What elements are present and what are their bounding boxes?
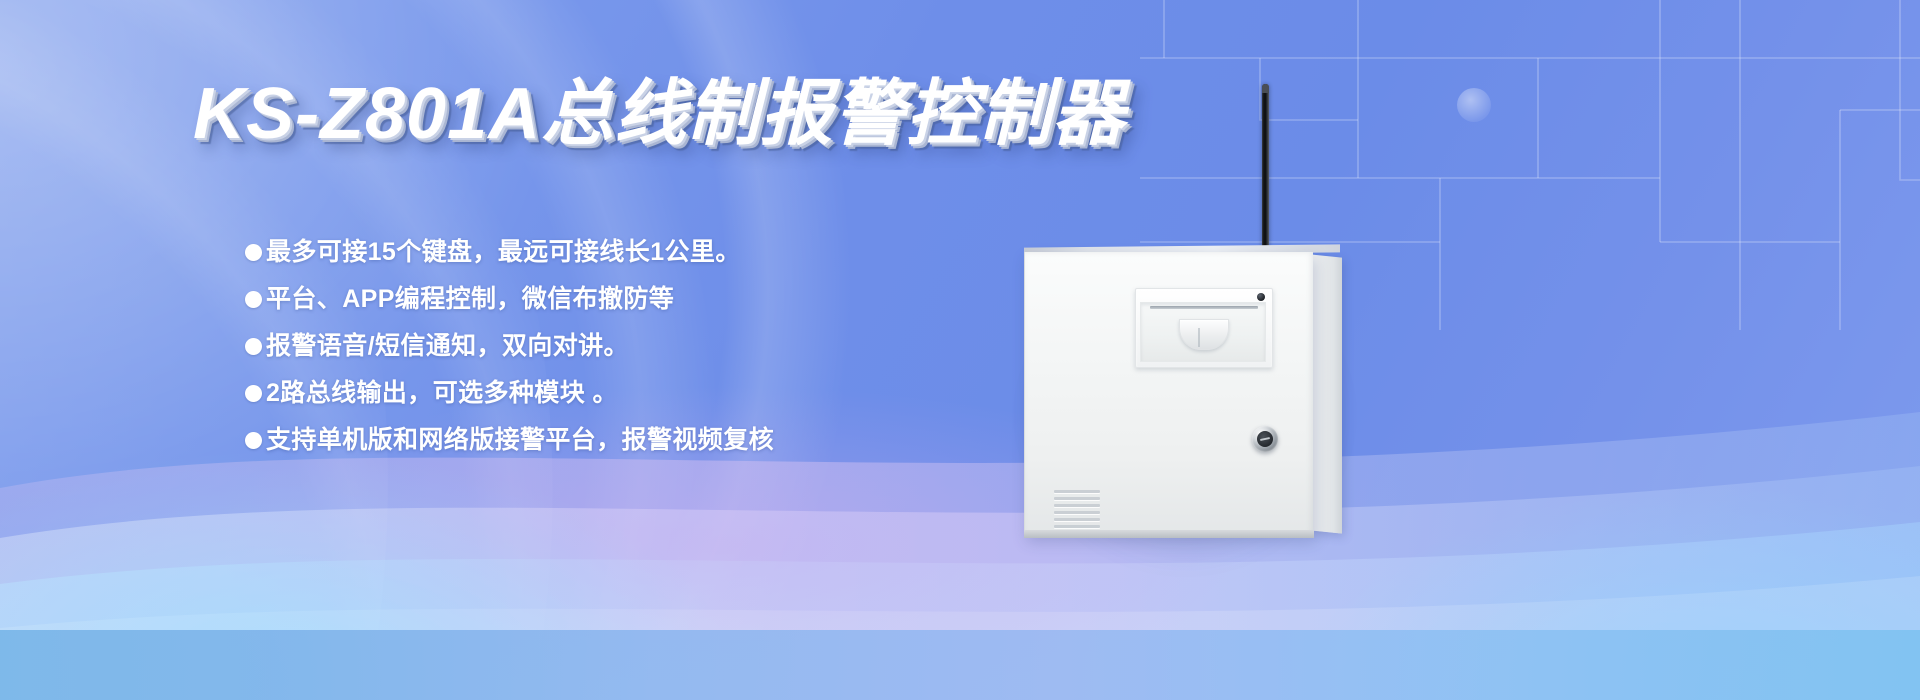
bullet-dot-icon <box>245 432 262 449</box>
vent-slot <box>1054 504 1100 507</box>
enclosure-side-face <box>1310 254 1342 533</box>
bullet-dot-icon <box>245 338 262 355</box>
page-title: KS-Z801A总线制报警控制器 <box>193 78 1125 150</box>
panel-slot <box>1150 306 1258 309</box>
feature-text: 平台、APP编程控制，微信布撤防等 <box>266 283 674 316</box>
product-banner: KS-Z801A总线制报警控制器 最多可接15个键盘，最远可接线长1公里。 平台… <box>0 0 1920 700</box>
status-led-icon <box>1257 293 1265 301</box>
feature-list: 最多可接15个键盘，最远可接线长1公里。 平台、APP编程控制，微信布撤防等 报… <box>245 236 774 471</box>
list-item: 报警语音/短信通知，双向对讲。 <box>245 330 774 363</box>
list-item: 平台、APP编程控制，微信布撤防等 <box>245 283 774 316</box>
vent-slot <box>1054 511 1100 514</box>
vent-slot <box>1054 490 1100 493</box>
product-image <box>1010 60 1530 580</box>
keypad-panel-inner <box>1140 302 1266 362</box>
recessed-keypad-panel <box>1135 288 1273 368</box>
feature-text: 2路总线输出，可选多种模块 。 <box>266 377 618 410</box>
bullet-dot-icon <box>245 385 262 402</box>
vent-slot <box>1054 518 1100 521</box>
list-item: 2路总线输出，可选多种模块 。 <box>245 377 774 410</box>
vent-slot <box>1054 525 1100 528</box>
lock-core <box>1257 431 1273 447</box>
bullet-dot-icon <box>245 244 262 261</box>
ventilation-slots <box>1054 490 1100 532</box>
vent-slot <box>1054 497 1100 500</box>
bullet-dot-icon <box>245 291 262 308</box>
panel-latch-handle <box>1179 319 1229 350</box>
bottom-blue-bar <box>0 630 1920 700</box>
feature-text: 报警语音/短信通知，双向对讲。 <box>266 330 629 363</box>
lock-keyway <box>1260 437 1270 441</box>
key-lock-icon <box>1252 426 1278 452</box>
list-item: 最多可接15个键盘，最远可接线长1公里。 <box>245 236 774 269</box>
feature-text: 支持单机版和网络版接警平台，报警视频复核 <box>266 424 774 457</box>
feature-text: 最多可接15个键盘，最远可接线长1公里。 <box>266 236 741 269</box>
list-item: 支持单机版和网络版接警平台，报警视频复核 <box>245 424 774 457</box>
